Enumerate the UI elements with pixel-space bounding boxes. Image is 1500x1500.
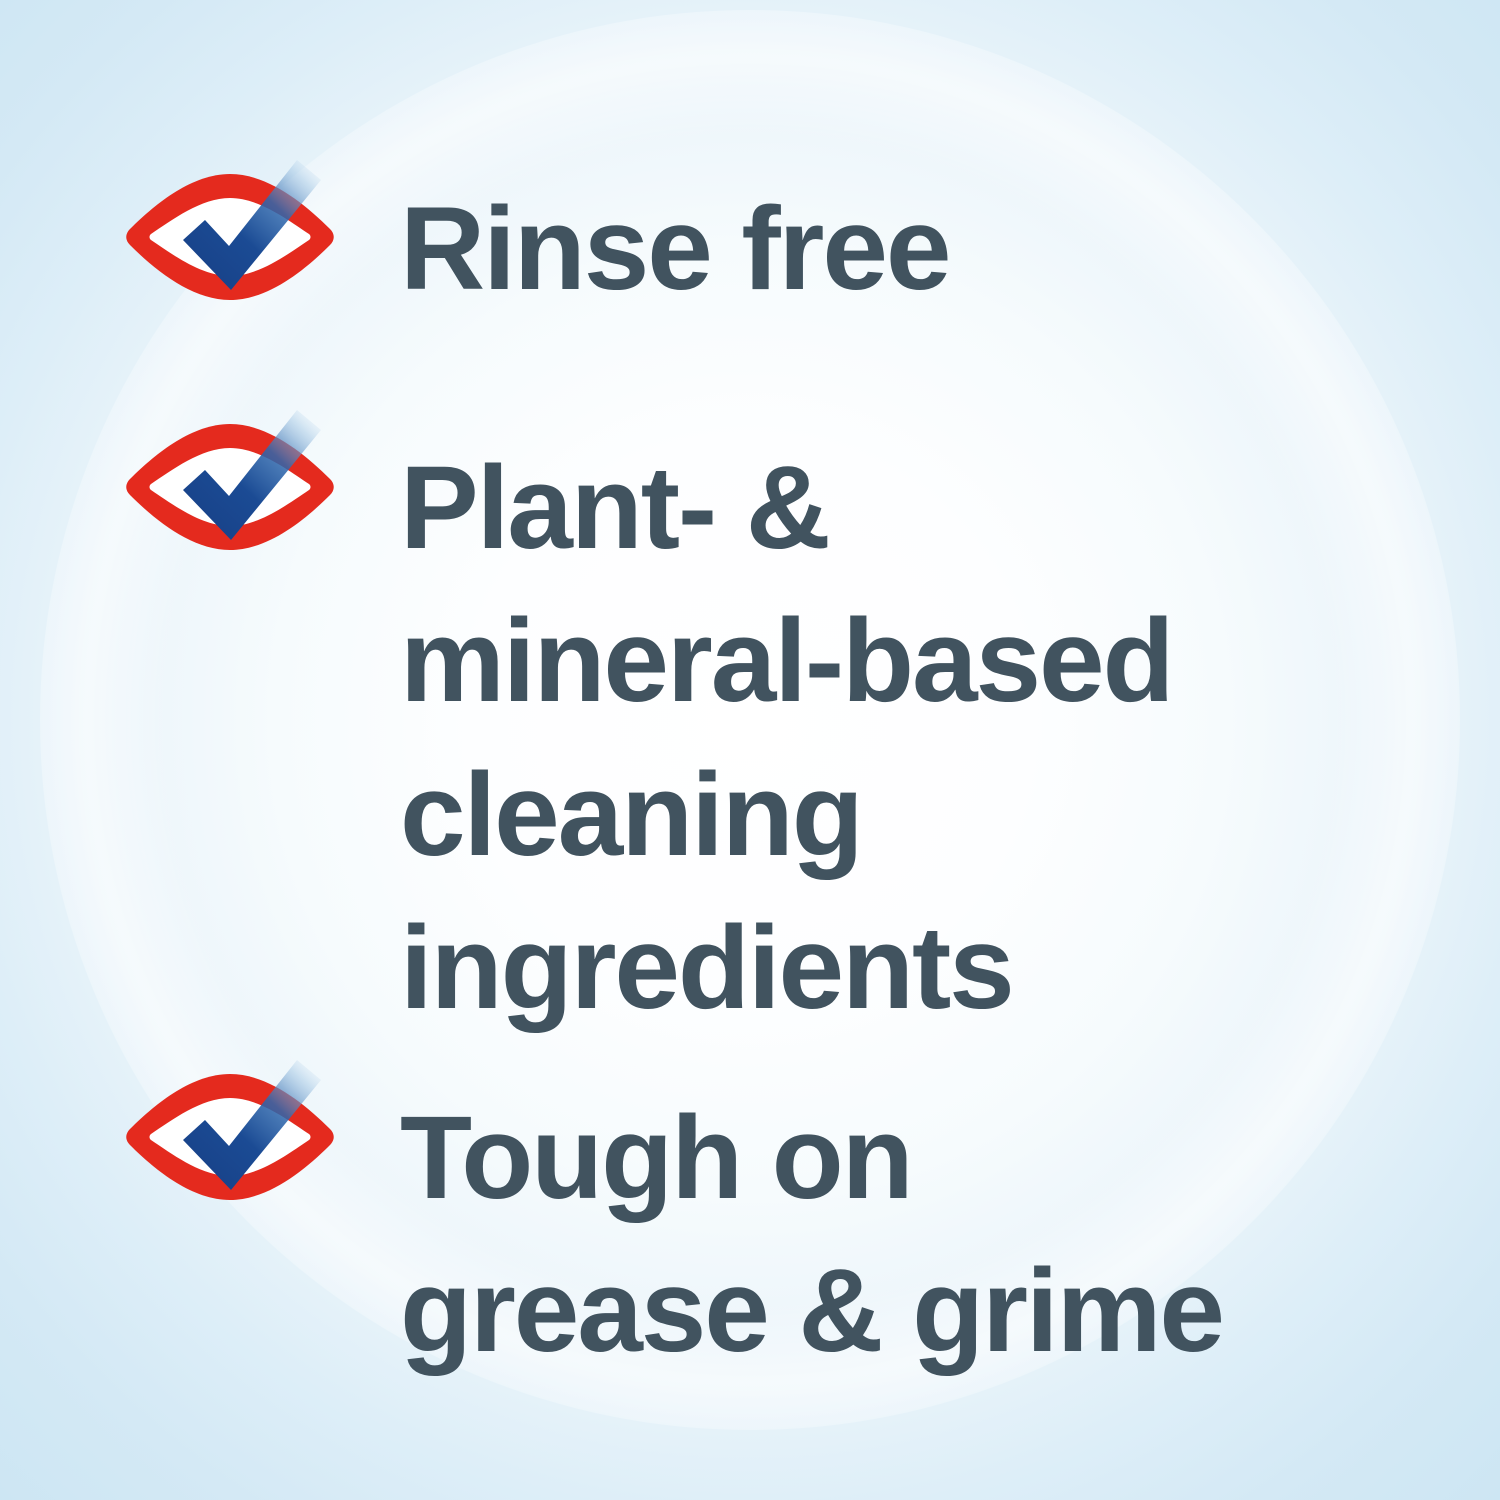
benefit-item-rinse-free: Rinse free (125, 168, 949, 318)
benefits-panel: Rinse free (0, 0, 1500, 1500)
benefit-item-tough-grease: Tough on grease & grime (125, 1068, 1223, 1389)
red-lens-check-icon (125, 168, 340, 318)
benefit-label-rinse-free: Rinse free (340, 168, 949, 308)
red-lens-check-icon (125, 418, 340, 568)
benefit-label-tough-grease: Tough on grease & grime (340, 1068, 1223, 1389)
benefit-item-plant-mineral: Plant- & mineral-based cleaning ingredie… (125, 418, 1172, 1046)
benefit-list: Rinse free (0, 0, 1500, 1500)
benefit-label-plant-mineral: Plant- & mineral-based cleaning ingredie… (340, 418, 1172, 1046)
red-lens-check-icon (125, 1068, 340, 1218)
